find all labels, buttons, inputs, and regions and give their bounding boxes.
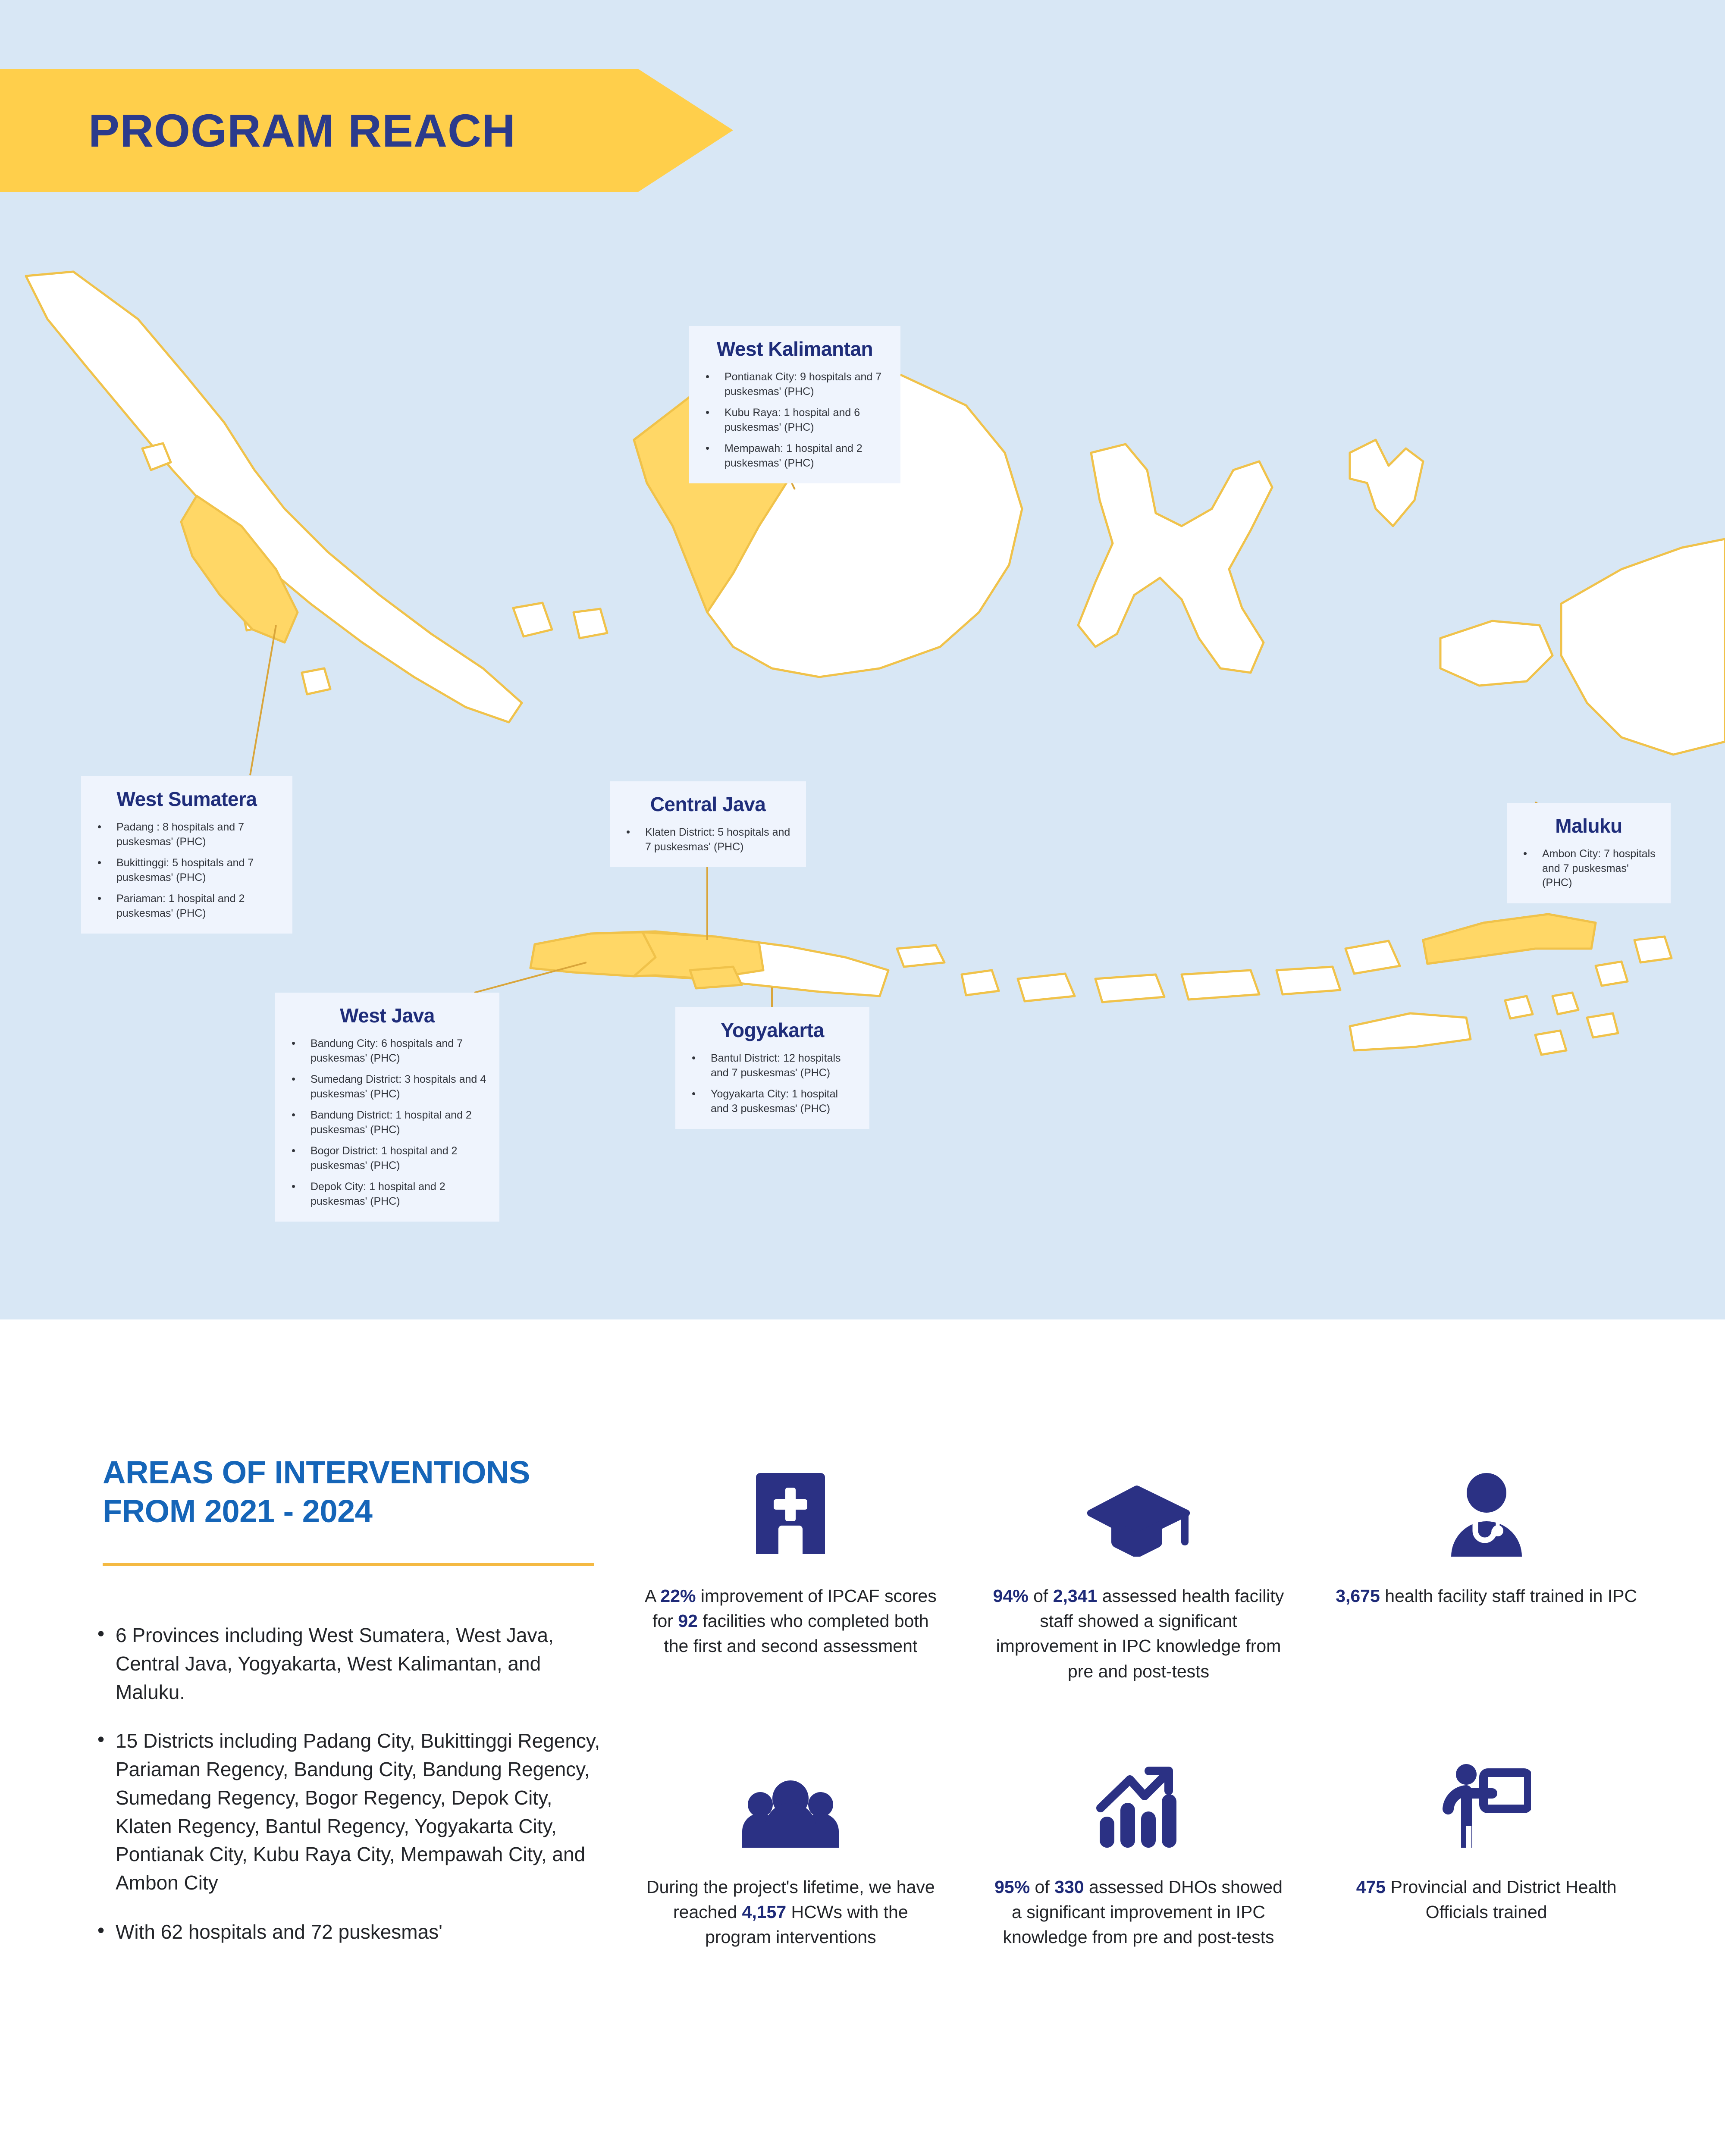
list-item: With 62 hospitals and 72 puskesmas' [91, 1918, 612, 1946]
stat-text: 94% of 2,341 assessed health facility st… [988, 1583, 1289, 1684]
list-item: Bandung City: 6 hospitals and 7 puskesma… [288, 1037, 486, 1065]
growth-chart-icon-svg [1096, 1763, 1181, 1848]
list-item: 15 Districts including Padang City, Buki… [91, 1727, 612, 1897]
list-item: Ambon City: 7 hospitals and 7 puskesmas'… [1520, 847, 1658, 890]
header-banner: PROGRAM REACH [0, 69, 733, 192]
stat-card-staff-trained: 3,675 health facility staff trained in I… [1312, 1470, 1660, 1684]
hospital-building-icon-svg [754, 1470, 827, 1557]
stat-card-dho-knowledge: 95% of 330 assessed DHOs showed a signif… [965, 1761, 1313, 1950]
areas-heading-line2: FROM 2021 - 2024 [103, 1492, 594, 1531]
callout-west-sumatera: West Sumatera Padang : 8 hospitals and 7… [81, 776, 292, 934]
callout-title: Maluku [1520, 814, 1658, 837]
callout-yogyakarta: Yogyakarta Bantul District: 12 hospitals… [675, 1007, 869, 1129]
callout-list: Bantul District: 12 hospitals and 7 pusk… [688, 1051, 856, 1116]
callout-list: Bandung City: 6 hospitals and 7 puskesma… [288, 1037, 486, 1209]
callout-central-java: Central Java Klaten District: 5 hospital… [610, 781, 806, 867]
callout-list: Padang : 8 hospitals and 7 puskesmas' (P… [94, 820, 279, 921]
list-item: Sumedang District: 3 hospitals and 4 pus… [288, 1072, 486, 1101]
list-item: Kubu Raya: 1 hospital and 6 puskesmas' (… [702, 406, 888, 435]
page-title: PROGRAM REACH [88, 103, 516, 157]
list-item: Bukittinggi: 5 hospitals and 7 puskesmas… [94, 856, 279, 885]
stat-card-ipcaf: A 22% improvement of IPCAF scores for 92… [617, 1470, 965, 1684]
stat-card-officials-trained: 475 Provincial and District Health Offic… [1312, 1761, 1660, 1950]
people-group-icon [740, 1761, 841, 1848]
graduation-cap-icon-svg [1085, 1483, 1192, 1557]
statistics-grid: A 22% improvement of IPCAF scores for 92… [617, 1470, 1660, 1950]
doctor-stethoscope-icon [1443, 1470, 1530, 1557]
list-item: Bandung District: 1 hospital and 2 puske… [288, 1108, 486, 1137]
callout-list: Klaten District: 5 hospitals and 7 puske… [623, 825, 793, 854]
callout-west-java: West Java Bandung City: 6 hospitals and … [275, 993, 499, 1222]
list-item: 6 Provinces including West Sumatera, Wes… [91, 1621, 612, 1706]
callout-title: Central Java [623, 793, 793, 816]
areas-heading: AREAS OF INTERVENTIONS FROM 2021 - 2024 [103, 1453, 594, 1531]
stat-card-staff-knowledge: 94% of 2,341 assessed health facility st… [965, 1470, 1313, 1684]
list-item: Pontianak City: 9 hospitals and 7 puskes… [702, 370, 888, 399]
list-item: Depok City: 1 hospital and 2 puskesmas' … [288, 1180, 486, 1209]
growth-chart-icon [1096, 1761, 1181, 1848]
map-panel: PROGRAM REACH [0, 0, 1725, 1319]
list-item: Padang : 8 hospitals and 7 puskesmas' (P… [94, 820, 279, 849]
callout-list: Ambon City: 7 hospitals and 7 puskesmas'… [1520, 847, 1658, 890]
stat-text: A 22% improvement of IPCAF scores for 92… [640, 1583, 941, 1659]
callout-title: West Kalimantan [702, 337, 888, 360]
areas-bullet-list: 6 Provinces including West Sumatera, Wes… [91, 1621, 612, 1967]
list-item: Klaten District: 5 hospitals and 7 puske… [623, 825, 793, 854]
people-group-icon-svg [740, 1776, 841, 1848]
stat-text: 95% of 330 assessed DHOs showed a signif… [988, 1874, 1289, 1950]
areas-heading-line1: AREAS OF INTERVENTIONS [103, 1453, 594, 1492]
content-panel: AREAS OF INTERVENTIONS FROM 2021 - 2024 … [0, 1319, 1725, 2156]
doctor-stethoscope-icon-svg [1443, 1472, 1530, 1557]
graduation-cap-icon [1085, 1470, 1192, 1557]
list-item: Mempawah: 1 hospital and 2 puskesmas' (P… [702, 442, 888, 470]
stat-card-hcws-reached: During the project's lifetime, we have r… [617, 1761, 965, 1950]
list-item: Pariaman: 1 hospital and 2 puskesmas' (P… [94, 892, 279, 921]
presenter-board-icon [1442, 1761, 1531, 1848]
list-item: Bantul District: 12 hospitals and 7 pusk… [688, 1051, 856, 1080]
presenter-board-icon-svg [1442, 1761, 1531, 1848]
callout-title: Yogyakarta [688, 1018, 856, 1042]
areas-divider [103, 1563, 594, 1566]
callout-west-kalimantan: West Kalimantan Pontianak City: 9 hospit… [689, 326, 900, 483]
stat-text: 3,675 health facility staff trained in I… [1336, 1583, 1637, 1608]
callout-title: West Java [288, 1004, 486, 1027]
list-item: Bogor District: 1 hospital and 2 puskesm… [288, 1144, 486, 1173]
stat-text: During the project's lifetime, we have r… [640, 1874, 941, 1950]
callout-title: West Sumatera [94, 787, 279, 811]
hospital-building-icon [754, 1470, 827, 1557]
list-item: Yogyakarta City: 1 hospital and 3 puskes… [688, 1087, 856, 1116]
stat-text: 475 Provincial and District Health Offic… [1336, 1874, 1637, 1924]
callout-maluku: Maluku Ambon City: 7 hospitals and 7 pus… [1507, 803, 1671, 903]
callout-list: Pontianak City: 9 hospitals and 7 puskes… [702, 370, 888, 470]
